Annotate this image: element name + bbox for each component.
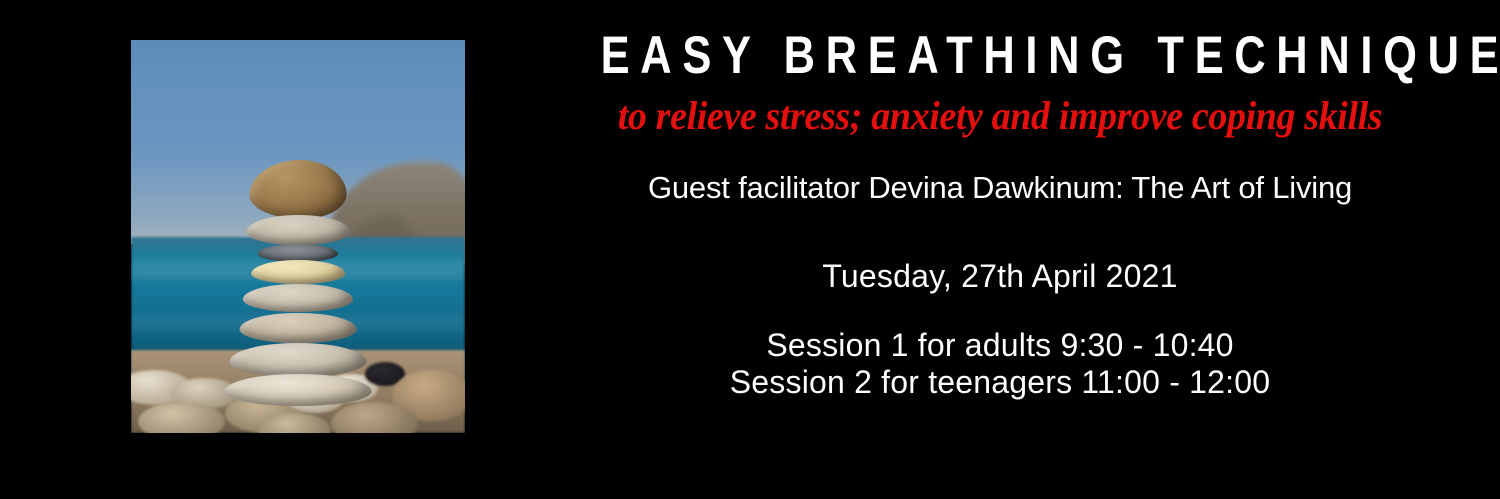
- session-list: Session 1 for adults 9:30 - 10:40 Sessio…: [500, 327, 1500, 401]
- banner-subheadline: to relieve stress; anxiety and improve c…: [525, 93, 1475, 139]
- event-promo-banner: EASY BREATHING TECHNIQUES to relieve str…: [0, 0, 1500, 499]
- session-line-2: Session 2 for teenagers 11:00 - 12:00: [500, 364, 1500, 401]
- banner-text-column: EASY BREATHING TECHNIQUES to relieve str…: [500, 0, 1500, 499]
- zen-stones-photo: [131, 40, 465, 433]
- cairn-stone-8: [225, 374, 372, 406]
- event-date: Tuesday, 27th April 2021: [500, 255, 1500, 297]
- cairn-stone-top: [250, 160, 347, 219]
- cairn-stone-2: [246, 215, 350, 245]
- cairn-stone-6: [240, 313, 357, 344]
- cairn-stone-7: [230, 343, 367, 377]
- session-line-1: Session 1 for adults 9:30 - 10:40: [500, 327, 1500, 364]
- facilitator-line: Guest facilitator Devina Dawkinum: The A…: [500, 168, 1500, 208]
- photo-scene: [131, 40, 465, 433]
- banner-headline: EASY BREATHING TECHNIQUES: [590, 26, 1410, 86]
- cairn-stone-5: [243, 284, 353, 312]
- cairn-stone-4: [251, 260, 345, 284]
